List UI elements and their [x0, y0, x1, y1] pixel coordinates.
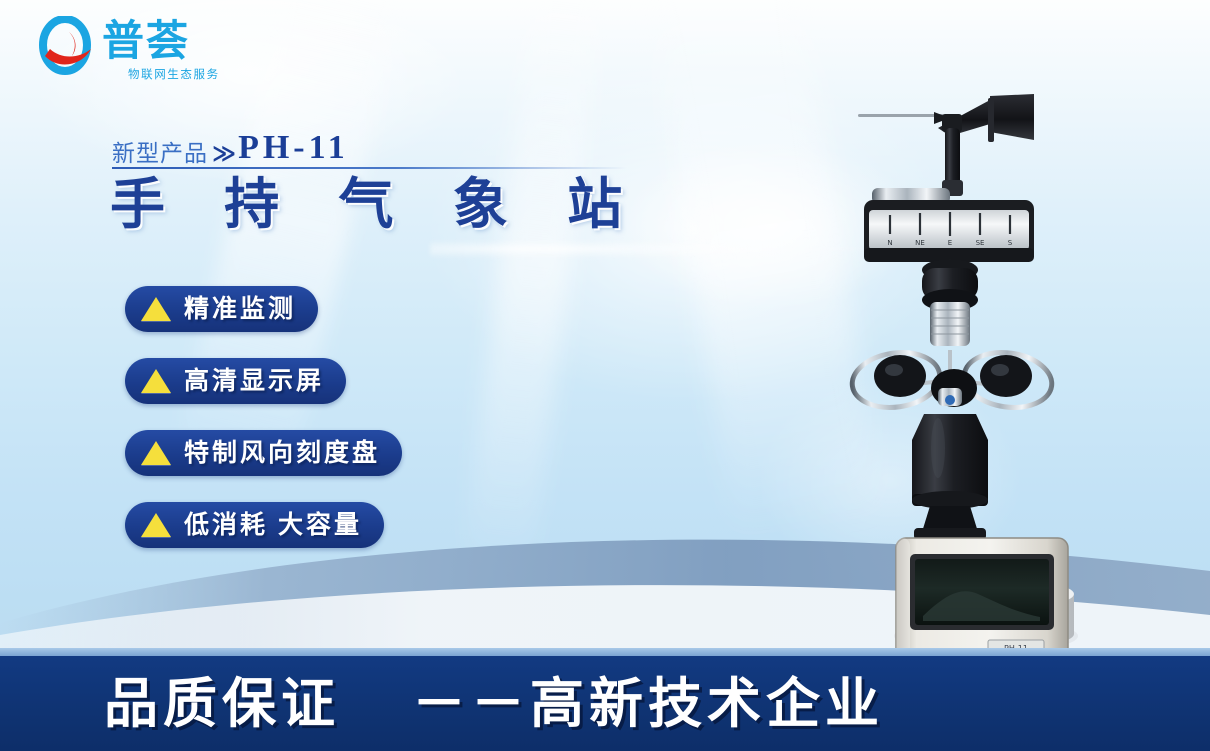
svg-text:E: E	[948, 239, 952, 247]
feature-label: 低消耗 大容量	[184, 513, 362, 538]
circle-swoosh-logo-icon	[36, 16, 98, 78]
brand-tagline: 物联网生态服务	[128, 66, 220, 82]
svg-text:S: S	[1008, 239, 1013, 247]
promo-banner: 普荟 物联网生态服务 新型产品 ≫ PH-11 手 持 气 象 站 精准监测 高…	[0, 0, 1210, 751]
footer-top-strip	[0, 648, 1210, 656]
footer-bar: 品质保证 －－高新技术企业	[0, 656, 1210, 751]
brand-name: 普荟	[102, 18, 190, 64]
handheld-weather-station-photo: NNEE SES	[838, 88, 1138, 658]
product-kicker: 新型产品 ≫ PH-11	[112, 129, 349, 165]
product-model: PH-11	[238, 131, 349, 165]
svg-text:SE: SE	[976, 239, 985, 247]
triangle-bullet-icon	[141, 369, 171, 393]
page-title: 手 持 气 象 站	[110, 172, 644, 236]
kicker-label: 新型产品	[112, 142, 208, 165]
brand-logo: 普荟 物联网生态服务	[36, 12, 251, 84]
footer-left-text: 品质保证	[104, 677, 340, 731]
feature-label: 高清显示屏	[184, 369, 324, 394]
feature-pill: 精准监测	[125, 286, 318, 332]
svg-text:N: N	[887, 239, 892, 247]
footer-right-text: －－高新技术企业	[412, 677, 884, 731]
feature-pill: 低消耗 大容量	[125, 502, 384, 548]
double-chevron-icon: ≫	[212, 142, 236, 165]
kicker-divider	[112, 167, 627, 169]
triangle-bullet-icon	[141, 513, 171, 537]
feature-pill: 特制风向刻度盘	[125, 430, 402, 476]
triangle-bullet-icon	[141, 441, 171, 465]
feature-pill: 高清显示屏	[125, 358, 346, 404]
triangle-bullet-icon	[141, 297, 171, 321]
svg-text:NE: NE	[915, 239, 925, 247]
feature-label: 特制风向刻度盘	[184, 441, 380, 466]
light-ray	[461, 0, 608, 582]
feature-label: 精准监测	[184, 297, 296, 322]
